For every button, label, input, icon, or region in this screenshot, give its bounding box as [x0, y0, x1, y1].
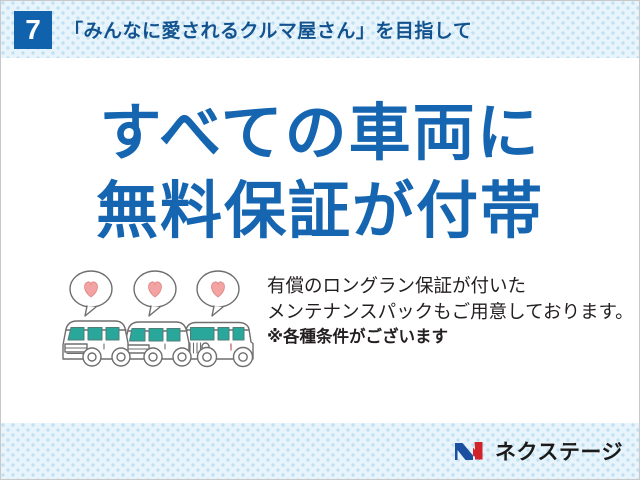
section-number-badge: 7	[14, 11, 52, 49]
heart-bubble-left	[70, 271, 112, 316]
main-content-area: すべての車両に 無料保証が付帯	[1, 61, 639, 423]
body-copy-line-1: 有償のロングラン保証が付いた	[267, 273, 634, 299]
heart-bubble-center	[134, 271, 176, 316]
advertisement-banner: 7 「みんなに愛されるクルマ屋さん」を目指して すべての車両に 無料保証が付帯	[0, 0, 640, 480]
car-suv-right	[184, 323, 253, 367]
body-copy-block: 有償のロングラン保証が付いた メンテナンスパックもご用意しております。 ※各種条…	[267, 267, 634, 350]
brand-name: ネクステージ	[495, 436, 623, 466]
body-copy-line-2: メンテナンスパックもご用意しております。	[267, 299, 634, 325]
brand-lockup: ネクステージ	[454, 436, 623, 466]
car-kei-left	[63, 321, 130, 366]
header-title: 「みんなに愛されるクルマ屋さん」を目指して	[64, 16, 472, 43]
nexstage-n-logo-icon	[454, 439, 488, 463]
car-minivan-center	[125, 322, 191, 366]
footer-band: ネクステージ	[1, 423, 639, 479]
headline-line-2: 無料保証が付帯	[1, 173, 639, 251]
body-copy-note: ※各種条件がございます	[267, 325, 634, 350]
heart-bubble-right	[197, 271, 239, 316]
header-content: 7 「みんなに愛されるクルマ屋さん」を目指して	[1, 1, 639, 58]
headline-line-1: すべての車両に	[1, 95, 639, 173]
lower-content-row: 有償のロングラン保証が付いた メンテナンスパックもご用意しております。 ※各種条…	[1, 267, 639, 392]
headline-block: すべての車両に 無料保証が付帯	[1, 95, 639, 251]
cars-illustration	[53, 267, 261, 377]
header-band: 7 「みんなに愛されるクルマ屋さん」を目指して	[1, 1, 639, 58]
